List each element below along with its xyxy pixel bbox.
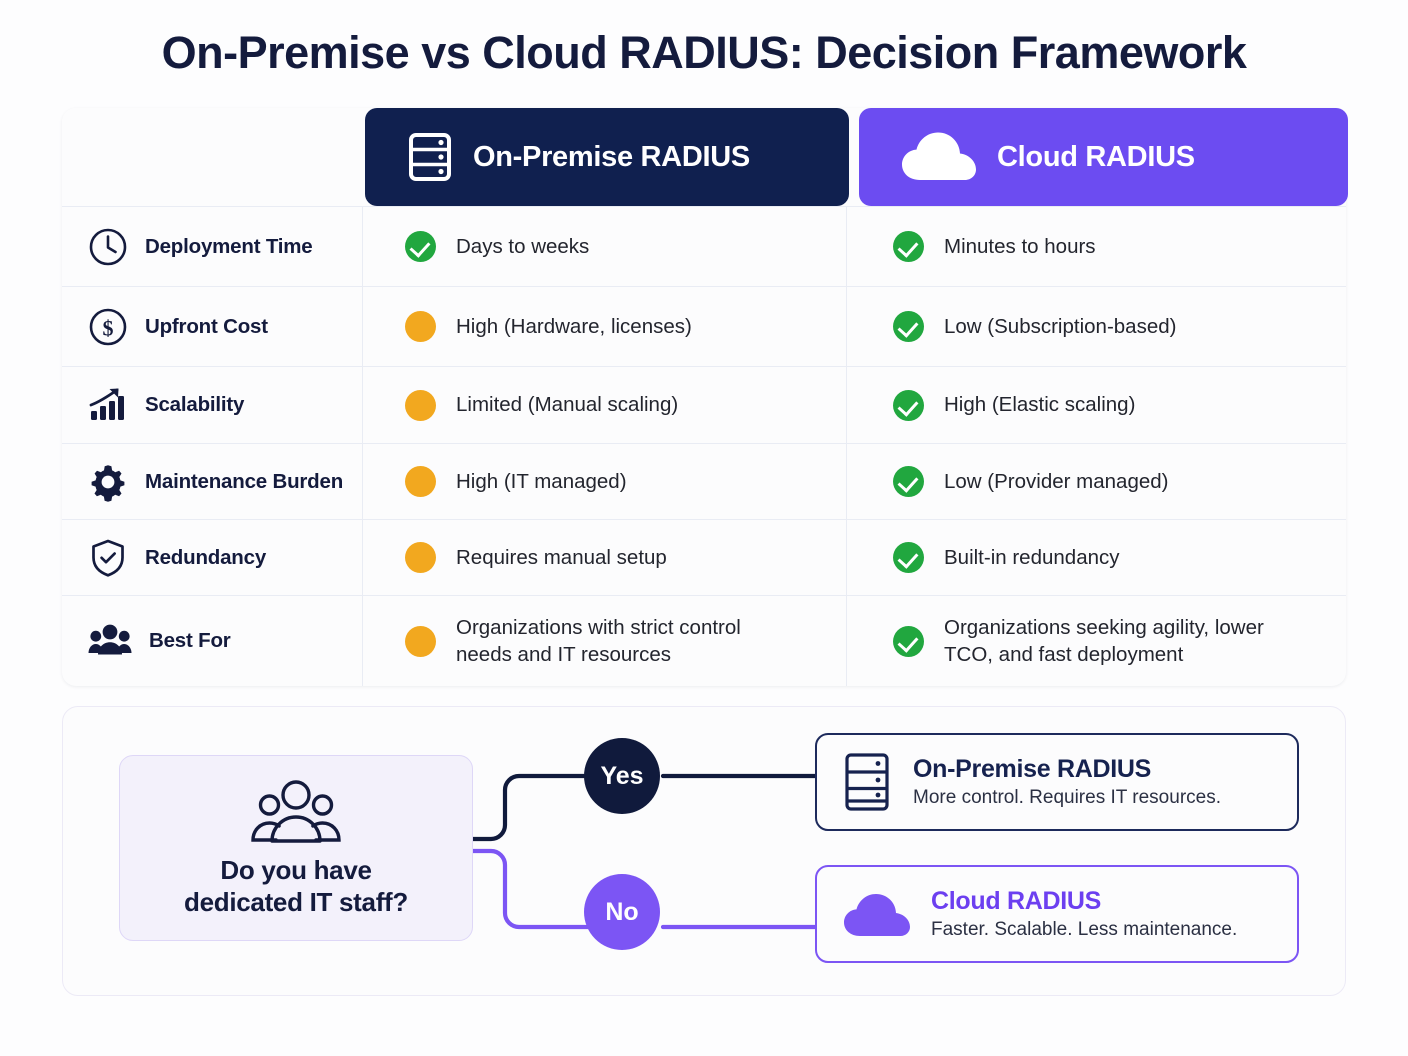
table-row: Scalability Limited (Manual scaling) Hig… xyxy=(62,366,1346,443)
cell-onprem: Limited (Manual scaling) xyxy=(363,367,847,443)
branch-badge-yes[interactable]: Yes xyxy=(584,738,660,814)
row-label: Upfront Cost xyxy=(145,315,268,339)
table-row: Best For Organizations with strict contr… xyxy=(62,595,1346,686)
server-outline-icon xyxy=(843,751,893,813)
decision-question-box: Do you have dedicated IT staff? xyxy=(119,755,473,941)
cell-cloud: Organizations seeking agility, lower TCO… xyxy=(847,596,1346,686)
row-label: Deployment Time xyxy=(145,235,313,259)
row-label-cell: Best For xyxy=(62,596,363,686)
decision-flow-panel: Do you have dedicated IT staff? Yes No xyxy=(62,706,1346,996)
infographic-page: On-Premise vs Cloud RADIUS: Decision Fra… xyxy=(0,0,1408,1056)
question-line-1: Do you have xyxy=(184,854,408,886)
check-circle-icon xyxy=(893,542,924,573)
row-label: Scalability xyxy=(145,393,244,417)
cell-onprem: Requires manual setup xyxy=(363,520,847,595)
check-circle-icon xyxy=(893,231,924,262)
table-row: Maintenance Burden High (IT managed) Low… xyxy=(62,443,1346,519)
row-label-cell: Scalability xyxy=(62,367,363,443)
table-row: Redundancy Requires manual setup Built-i… xyxy=(62,519,1346,595)
users-group-outline-icon xyxy=(250,778,342,846)
cell-onprem-text: High (Hardware, licenses) xyxy=(456,313,692,340)
check-circle-icon xyxy=(893,626,924,657)
cell-cloud: Low (Subscription-based) xyxy=(847,287,1346,366)
cell-onprem: Organizations with strict control needs … xyxy=(363,596,847,686)
cloud-icon xyxy=(901,131,977,183)
check-circle-icon xyxy=(893,466,924,497)
comparison-table: On-Premise RADIUS Cloud RADIUS xyxy=(62,108,1346,686)
column-header-onprem-label: On-Premise RADIUS xyxy=(473,141,750,174)
row-label: Best For xyxy=(149,629,231,653)
server-icon xyxy=(407,132,453,182)
shield-check-icon xyxy=(88,538,128,578)
cell-onprem-text: Requires manual setup xyxy=(456,544,667,571)
dot-icon xyxy=(405,466,436,497)
result-title: Cloud RADIUS xyxy=(931,887,1237,916)
row-label-cell: Redundancy xyxy=(62,520,363,595)
result-subtitle: Faster. Scalable. Less maintenance. xyxy=(931,919,1237,941)
row-label-cell: Maintenance Burden xyxy=(62,444,363,519)
check-circle-icon xyxy=(893,390,924,421)
table-header-row: On-Premise RADIUS Cloud RADIUS xyxy=(62,108,1346,206)
flow-connectors xyxy=(473,727,873,977)
column-header-onprem: On-Premise RADIUS xyxy=(365,108,849,206)
cell-onprem-text: Days to weeks xyxy=(456,233,589,260)
cell-cloud: Built-in redundancy xyxy=(847,520,1346,595)
cell-onprem-text: High (IT managed) xyxy=(456,468,627,495)
result-card-onprem-text: On-Premise RADIUS More control. Requires… xyxy=(913,755,1221,809)
dot-icon xyxy=(405,626,436,657)
result-card-onprem[interactable]: On-Premise RADIUS More control. Requires… xyxy=(815,733,1299,831)
cell-cloud: Low (Provider managed) xyxy=(847,444,1346,519)
row-label: Maintenance Burden xyxy=(145,470,343,494)
cell-cloud-text: Organizations seeking agility, lower TCO… xyxy=(944,614,1264,669)
branch-badge-yes-label: Yes xyxy=(600,762,643,791)
table-row: Deployment Time Days to weeks Minutes to… xyxy=(62,206,1346,286)
question-line-2: dedicated IT staff? xyxy=(184,886,408,918)
comparison-table-wrapper: On-Premise RADIUS Cloud RADIUS xyxy=(62,108,1346,686)
column-header-cloud-label: Cloud RADIUS xyxy=(997,141,1195,174)
cell-onprem: High (Hardware, licenses) xyxy=(363,287,847,366)
dollar-circle-icon: $ xyxy=(88,307,128,347)
result-subtitle: More control. Requires IT resources. xyxy=(913,787,1221,809)
page-title: On-Premise vs Cloud RADIUS: Decision Fra… xyxy=(0,0,1408,78)
cell-onprem: Days to weeks xyxy=(363,207,847,286)
cell-cloud-text: Minutes to hours xyxy=(944,233,1096,260)
check-circle-icon xyxy=(405,231,436,262)
cell-cloud-text: Built-in redundancy xyxy=(944,544,1120,571)
cell-cloud: High (Elastic scaling) xyxy=(847,367,1346,443)
check-circle-icon xyxy=(893,311,924,342)
dot-icon xyxy=(405,390,436,421)
cell-cloud-text: High (Elastic scaling) xyxy=(944,391,1135,418)
branch-badge-no-label: No xyxy=(605,898,638,927)
users-group-icon xyxy=(88,621,132,661)
cell-onprem-text: Limited (Manual scaling) xyxy=(456,391,678,418)
growth-chart-icon xyxy=(88,385,128,425)
result-card-cloud-text: Cloud RADIUS Faster. Scalable. Less main… xyxy=(931,887,1237,941)
row-label-cell: Deployment Time xyxy=(62,207,363,286)
cell-cloud-text: Low (Provider managed) xyxy=(944,468,1168,495)
clock-icon xyxy=(88,227,128,267)
column-header-cloud: Cloud RADIUS xyxy=(859,108,1348,206)
criteria-header-spacer xyxy=(62,108,363,206)
dot-icon xyxy=(405,311,436,342)
gear-icon xyxy=(88,462,128,502)
svg-text:$: $ xyxy=(103,315,114,340)
row-label-cell: $ Upfront Cost xyxy=(62,287,363,366)
cloud-filled-icon xyxy=(843,889,911,939)
row-label: Redundancy xyxy=(145,546,266,570)
decision-question-text: Do you have dedicated IT staff? xyxy=(184,854,408,918)
cell-onprem-text: Organizations with strict control needs … xyxy=(456,614,756,669)
branch-badge-no[interactable]: No xyxy=(584,874,660,950)
result-title: On-Premise RADIUS xyxy=(913,755,1221,784)
cell-onprem: High (IT managed) xyxy=(363,444,847,519)
table-row: $ Upfront Cost High (Hardware, licenses)… xyxy=(62,286,1346,366)
cell-cloud-text: Low (Subscription-based) xyxy=(944,313,1176,340)
result-card-cloud[interactable]: Cloud RADIUS Faster. Scalable. Less main… xyxy=(815,865,1299,963)
cell-cloud: Minutes to hours xyxy=(847,207,1346,286)
dot-icon xyxy=(405,542,436,573)
